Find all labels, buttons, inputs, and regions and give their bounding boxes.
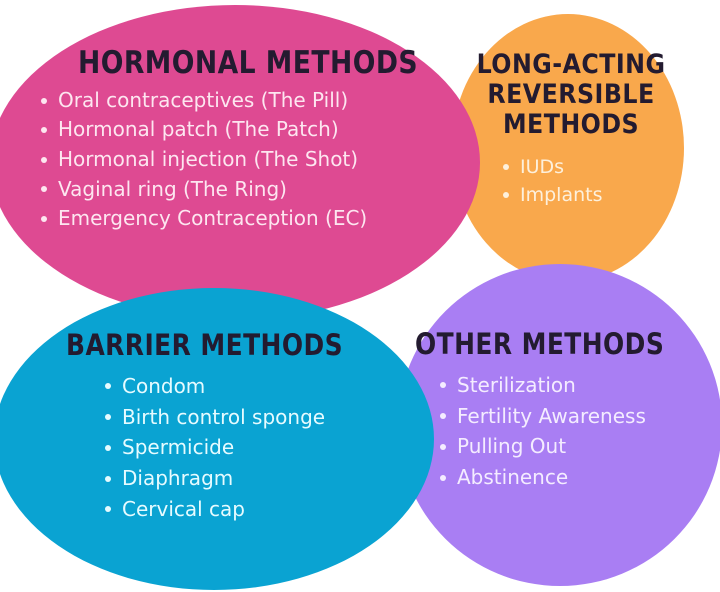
list-item: Abstinence (437, 462, 715, 493)
hormonal-methods-list: Oral contraceptives (The Pill) Hormonal … (38, 86, 454, 234)
hormonal-methods-title: HORMONAL METHODS (78, 47, 401, 80)
list-item: Cervical cap (102, 494, 424, 525)
list-item: Hormonal injection (The Shot) (38, 145, 454, 175)
barrier-methods-group: BARRIER METHODS Condom Birth control spo… (44, 330, 424, 525)
infographic-canvas: HORMONAL METHODS Oral contraceptives (Th… (0, 0, 720, 592)
list-item: Spermicide (102, 432, 424, 463)
list-item: Emergency Contraception (EC) (38, 204, 454, 234)
list-item: IUDs (500, 153, 686, 182)
other-methods-group: OTHER METHODS Sterilization Fertility Aw… (415, 329, 715, 493)
list-item: Hormonal patch (The Patch) (38, 115, 454, 145)
barrier-methods-list: Condom Birth control sponge Spermicide D… (102, 371, 424, 525)
larc-methods-list: IUDs Implants (500, 153, 686, 210)
list-item: Birth control sponge (102, 402, 424, 433)
list-item: Oral contraceptives (The Pill) (38, 86, 454, 116)
larc-methods-title: LONG-ACTING REVERSIBLE METHODS (470, 50, 672, 141)
list-item: Condom (102, 371, 424, 402)
hormonal-methods-group: HORMONAL METHODS Oral contraceptives (Th… (34, 47, 454, 234)
list-item: Vaginal ring (The Ring) (38, 175, 454, 205)
list-item: Diaphragm (102, 463, 424, 494)
larc-methods-group: LONG-ACTING REVERSIBLE METHODS IUDs Impl… (456, 50, 686, 210)
list-item: Pulling Out (437, 431, 715, 462)
barrier-methods-title: BARRIER METHODS (66, 330, 374, 361)
other-methods-title: OTHER METHODS (415, 329, 673, 360)
list-item: Implants (500, 181, 686, 210)
list-item: Fertility Awareness (437, 401, 715, 432)
other-methods-list: Sterilization Fertility Awareness Pullin… (437, 370, 715, 493)
list-item: Sterilization (437, 370, 715, 401)
